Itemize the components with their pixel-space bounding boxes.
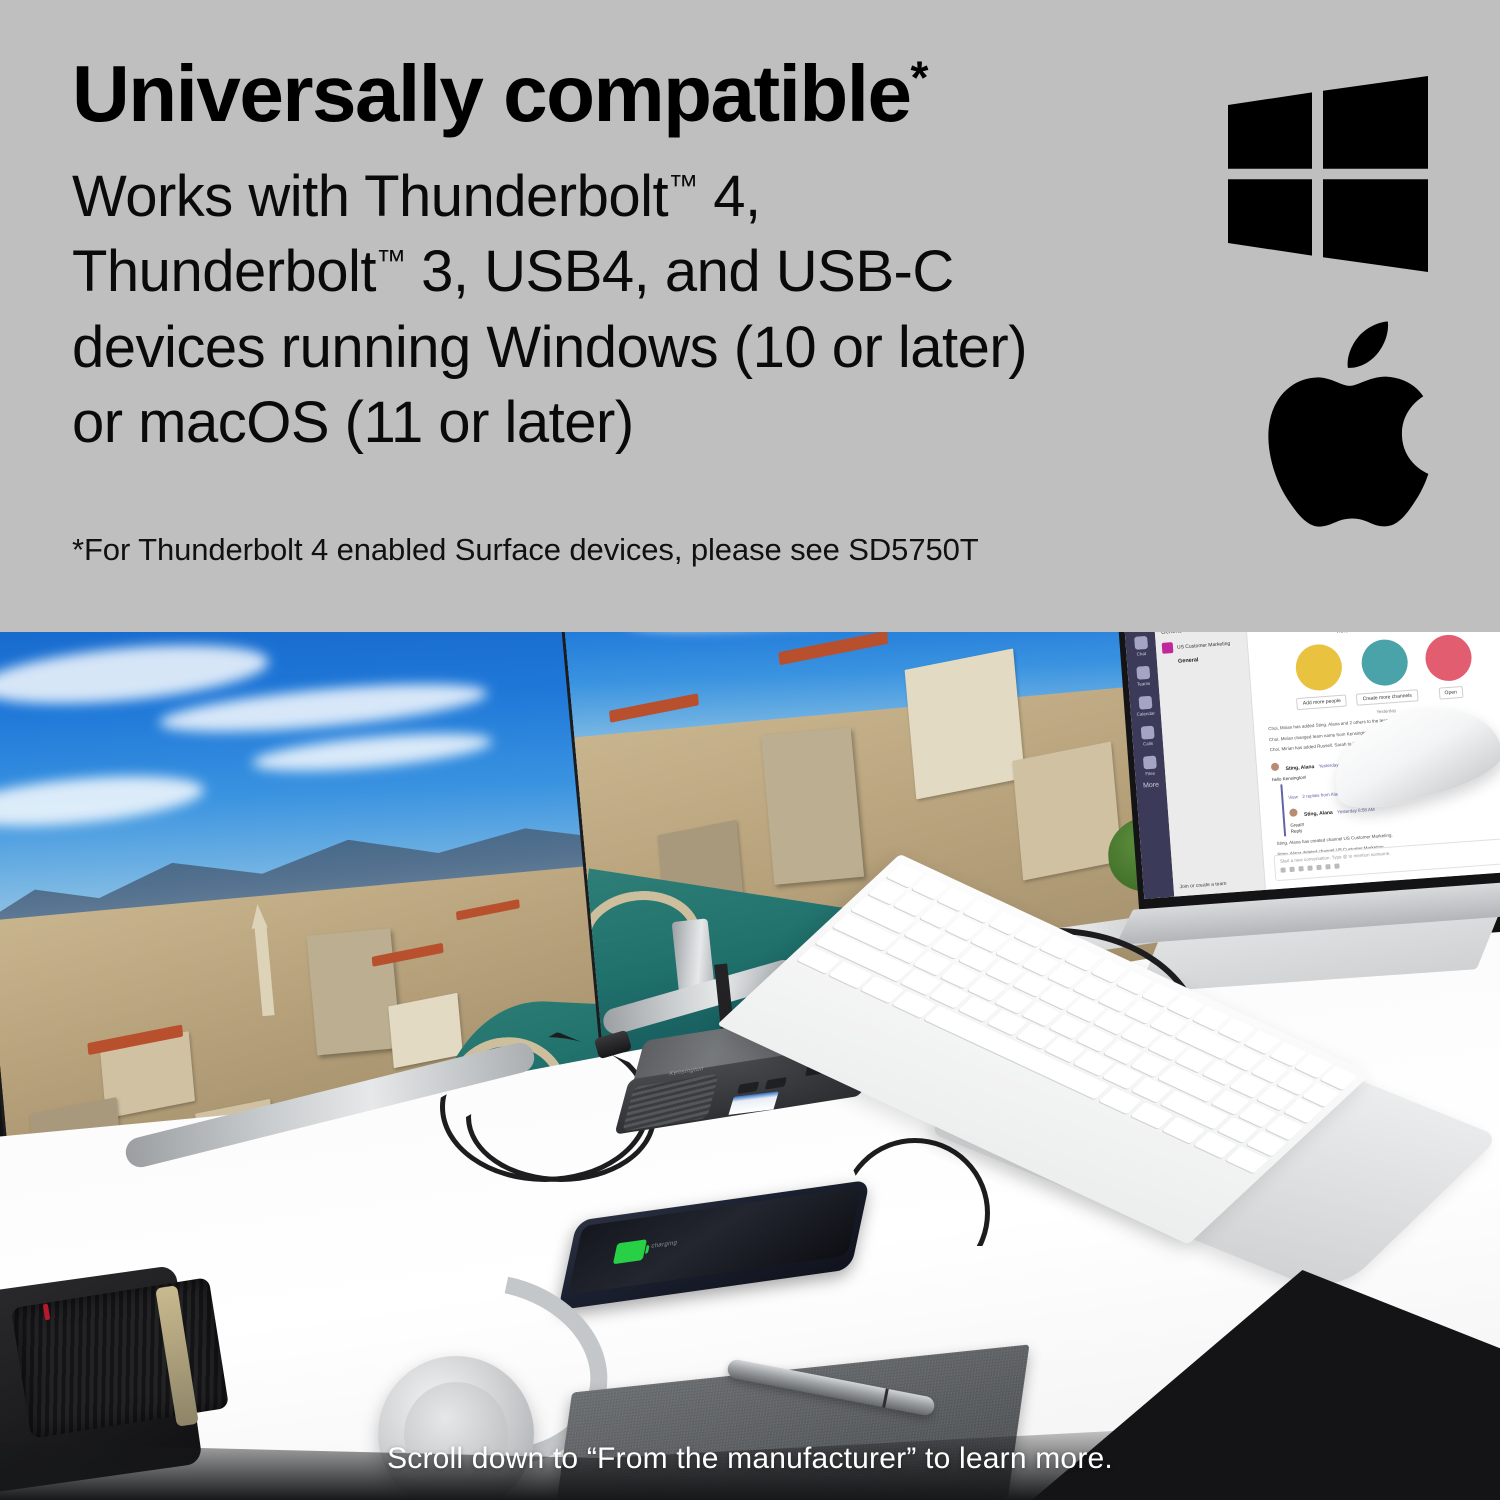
add-people-illustration bbox=[1295, 643, 1344, 692]
subcopy-line-2: Thunderbolt™ 3, USB4, and USB-C bbox=[72, 239, 954, 304]
subcopy-line-4: or macOS (11 or later) bbox=[72, 390, 634, 455]
phone-status-label: charging bbox=[651, 1240, 678, 1250]
footnote: *For Thunderbolt 4 enabled Surface devic… bbox=[72, 532, 979, 568]
building bbox=[1012, 741, 1122, 880]
create-channels-illustration bbox=[1360, 638, 1409, 687]
product-feature-card: Universally compatible* Works with Thund… bbox=[0, 0, 1500, 1500]
rail-label-calls: Calls bbox=[1133, 740, 1163, 747]
reply-author: Sting, Alana bbox=[1304, 810, 1333, 818]
open-button[interactable]: Open bbox=[1438, 686, 1463, 700]
join-or-create-team-button[interactable]: Join or create a team bbox=[1179, 881, 1226, 890]
scroll-hint-caption: Scroll down to “From the manufacturer” t… bbox=[0, 1442, 1500, 1476]
subcopy-line-1: Works with Thunderbolt™ 4, bbox=[72, 164, 761, 229]
headline-text: Universally compatible bbox=[72, 49, 910, 138]
emoji-icon[interactable] bbox=[1298, 866, 1303, 871]
product-photo: Chat Teams Calendar Calls Files More Gen… bbox=[0, 632, 1500, 1500]
welcome-card[interactable]: Create more channels bbox=[1353, 637, 1419, 705]
teams-icon[interactable] bbox=[1136, 666, 1150, 680]
meet-icon[interactable] bbox=[1325, 864, 1330, 869]
building bbox=[904, 649, 1024, 800]
team-avatar bbox=[1162, 642, 1174, 654]
headline-asterisk: * bbox=[910, 51, 926, 103]
welcome-card[interactable]: Add more people bbox=[1293, 643, 1348, 710]
rail-label-teams: Teams bbox=[1128, 680, 1158, 687]
rail-label-chat: Chat bbox=[1126, 650, 1156, 657]
open-illustration bbox=[1424, 633, 1473, 682]
battery-charging-icon bbox=[613, 1239, 647, 1264]
trademark-symbol: ™ bbox=[668, 169, 698, 202]
attach-icon[interactable] bbox=[1289, 867, 1294, 872]
avatar bbox=[1289, 808, 1298, 817]
message-author: Sting, Alana bbox=[1285, 764, 1314, 772]
more-options-icon[interactable] bbox=[1334, 863, 1339, 868]
subcopy: Works with Thunderbolt™ 4, Thunderbolt™ … bbox=[72, 159, 1182, 461]
info-panel: Universally compatible* Works with Thund… bbox=[0, 0, 1500, 632]
rail-label-calendar: Calendar bbox=[1131, 710, 1161, 717]
giphy-icon[interactable] bbox=[1307, 865, 1312, 870]
copy-block: Universally compatible* Works with Thund… bbox=[72, 52, 1182, 460]
calendar-icon[interactable] bbox=[1138, 696, 1152, 710]
files-icon[interactable] bbox=[1142, 756, 1156, 770]
welcome-card[interactable]: Open bbox=[1424, 633, 1475, 700]
format-icon[interactable] bbox=[1280, 867, 1285, 872]
subcopy-line-3: devices running Windows (10 or later) bbox=[72, 315, 1027, 380]
sticker-icon[interactable] bbox=[1316, 865, 1321, 870]
chat-icon[interactable] bbox=[1134, 636, 1148, 650]
avatar bbox=[1271, 762, 1280, 771]
page-title: Universally compatible* bbox=[72, 52, 1182, 137]
stone-tower bbox=[306, 929, 401, 1056]
calls-icon[interactable] bbox=[1140, 726, 1154, 740]
team-name: US Customer Marketing bbox=[1177, 640, 1231, 650]
rail-label-files: Files bbox=[1135, 770, 1165, 777]
apple-logo-icon bbox=[1253, 318, 1433, 538]
trademark-symbol: ™ bbox=[376, 245, 406, 278]
stone-tower bbox=[761, 727, 864, 885]
windows-logo-icon bbox=[1228, 76, 1428, 272]
view-replies-link[interactable]: View bbox=[1288, 794, 1298, 800]
rail-label-more[interactable]: More bbox=[1136, 781, 1166, 790]
